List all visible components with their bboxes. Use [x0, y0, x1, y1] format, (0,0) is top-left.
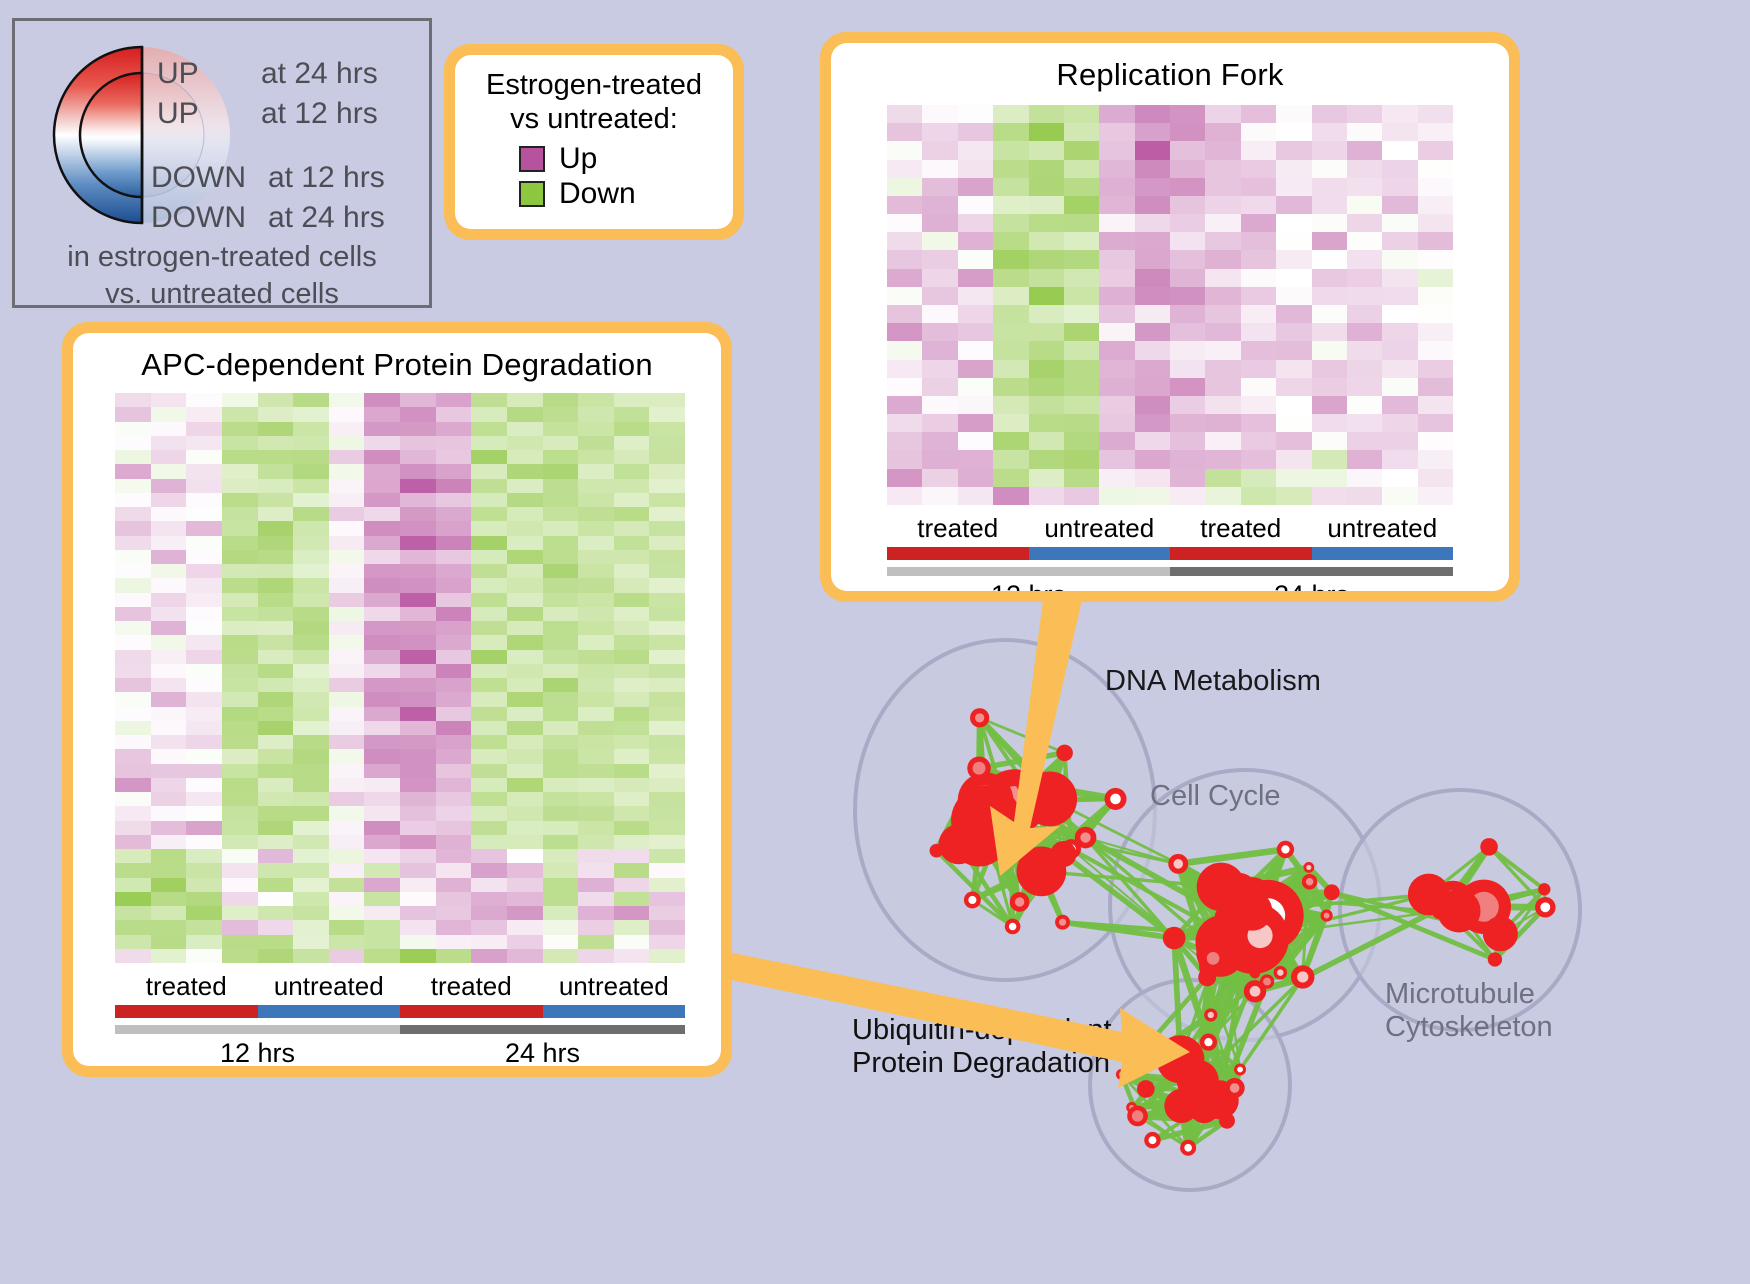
- legend-item-down: Down: [519, 177, 717, 211]
- rep-time-1: 24 hrs: [1170, 580, 1453, 591]
- apc-time-1: 24 hrs: [400, 1038, 685, 1066]
- network-node-core: [1080, 832, 1090, 842]
- color-key-box: UP at 24 hrs UP at 12 hrs DOWN at 12 hrs…: [12, 18, 432, 308]
- network-node[interactable]: [1483, 916, 1518, 951]
- network-node-core: [1540, 902, 1550, 912]
- rep-condition-bars: [887, 547, 1453, 560]
- replication-fork-title: Replication Fork: [831, 43, 1509, 93]
- network-node-core: [1306, 878, 1313, 885]
- network-node-core: [1250, 986, 1261, 997]
- replication-fork-heatmap: [887, 105, 1453, 505]
- network-node-core: [1207, 952, 1220, 965]
- apc-cond-1: untreated: [258, 971, 401, 1002]
- network-node[interactable]: [1050, 841, 1076, 867]
- apc-time-labels: 12 hrs 24 hrs: [115, 1038, 685, 1066]
- network-node-core: [1297, 971, 1308, 982]
- replication-fork-axis: treated untreated treated untreated 12 h…: [887, 513, 1453, 591]
- rep-time-bars: [887, 567, 1453, 576]
- network-node-core: [1184, 1144, 1192, 1152]
- network-label-dna-metabolism: DNA Metabolism: [1105, 665, 1321, 698]
- network-node-core: [1277, 969, 1283, 975]
- network-label-ubiquitin: Ubiquitin-dependent Protein Degradation: [852, 1014, 1112, 1081]
- rep-condition-labels: treated untreated treated untreated: [887, 513, 1453, 544]
- key-time-up-12: at 12 hrs: [261, 97, 378, 131]
- network-node-core: [1263, 978, 1271, 986]
- network-node[interactable]: [1056, 745, 1073, 762]
- network-node-core: [1237, 1067, 1243, 1073]
- legend-heading-line2: vs untreated:: [471, 103, 717, 137]
- rep-cond-1: untreated: [1029, 513, 1171, 544]
- network-node[interactable]: [1156, 1035, 1204, 1083]
- legend-heading: Estrogen-treated vs untreated:: [471, 69, 717, 136]
- network-node-core: [1173, 859, 1183, 869]
- network-node[interactable]: [1250, 968, 1260, 978]
- legend-panel: Estrogen-treated vs untreated: Up Down: [444, 44, 744, 240]
- network-node-core: [973, 762, 986, 775]
- apc-condition-bars: [115, 1005, 685, 1018]
- network-node[interactable]: [1437, 889, 1480, 932]
- network-node-core: [1208, 1012, 1214, 1018]
- network-node-core: [1009, 923, 1016, 930]
- apc-degradation-title: APC-dependent Protein Degradation: [73, 333, 721, 383]
- network-node-core: [1306, 865, 1311, 870]
- network-node-core: [1119, 1072, 1124, 1077]
- network-node[interactable]: [1137, 1080, 1155, 1098]
- network-node[interactable]: [1164, 1089, 1198, 1123]
- network-node-core: [968, 896, 976, 904]
- network-node-core: [1059, 919, 1066, 926]
- network-node[interactable]: [1219, 1113, 1235, 1129]
- apc-condition-labels: treated untreated treated untreated: [115, 971, 685, 1002]
- rep-time-labels: 12 hrs 24 hrs: [887, 580, 1453, 591]
- replication-fork-panel: Replication Fork treated untreated treat…: [820, 32, 1520, 602]
- key-time-down-24: at 24 hrs: [268, 201, 385, 235]
- apc-time-0: 12 hrs: [115, 1038, 400, 1066]
- key-word-down-24: DOWN: [151, 201, 246, 235]
- legend-label-up: Up: [559, 142, 597, 176]
- apc-cond-3: untreated: [543, 971, 686, 1002]
- network-node-core: [1281, 845, 1289, 853]
- legend-item-up: Up: [519, 142, 717, 176]
- apc-degradation-axis: treated untreated treated untreated 12 h…: [115, 971, 685, 1066]
- network-node[interactable]: [1480, 838, 1498, 856]
- figure-canvas: UP at 24 hrs UP at 12 hrs DOWN at 12 hrs…: [0, 0, 1750, 1279]
- network-node[interactable]: [1488, 952, 1502, 966]
- network-node[interactable]: [1163, 927, 1186, 950]
- color-key-footer-line2: vs. untreated cells: [15, 276, 429, 313]
- apc-time-bars: [115, 1025, 685, 1034]
- network-label-cell-cycle: Cell Cycle: [1150, 780, 1281, 813]
- legend-label-down: Down: [559, 177, 636, 211]
- legend-swatch-down: [519, 181, 545, 207]
- network-node[interactable]: [1198, 968, 1216, 986]
- network-node[interactable]: [930, 844, 944, 858]
- color-key-footer-line1: in estrogen-treated cells: [15, 239, 429, 276]
- legend-swatch-up: [519, 146, 545, 172]
- key-time-down-12: at 12 hrs: [268, 161, 385, 195]
- apc-cond-0: treated: [115, 971, 258, 1002]
- network-node[interactable]: [1216, 923, 1238, 945]
- network-node-core: [1324, 913, 1330, 919]
- apc-degradation-panel: APC-dependent Protein Degradation treate…: [62, 322, 732, 1077]
- pathway-network-diagram: DNA Metabolism Cell Cycle Microtubule Cy…: [790, 610, 1750, 1279]
- network-node-core: [1204, 1038, 1212, 1046]
- network-label-microtubule: Microtubule Cytoskeleton: [1385, 978, 1553, 1045]
- network-node[interactable]: [1039, 779, 1056, 796]
- network-node-core: [1110, 794, 1121, 805]
- network-node-core: [1132, 1110, 1143, 1121]
- network-node-core: [1015, 897, 1024, 906]
- key-word-up-12: UP: [157, 97, 199, 131]
- network-node[interactable]: [971, 812, 999, 840]
- network-svg: [790, 610, 1750, 1279]
- network-node[interactable]: [1538, 883, 1550, 895]
- apc-cond-2: treated: [400, 971, 543, 1002]
- color-key-footer: in estrogen-treated cells vs. untreated …: [15, 239, 429, 313]
- rep-cond-3: untreated: [1312, 513, 1454, 544]
- legend-heading-line1: Estrogen-treated: [471, 69, 717, 103]
- key-word-up-24: UP: [157, 57, 199, 91]
- rep-cond-0: treated: [887, 513, 1029, 544]
- key-time-up-24: at 24 hrs: [261, 57, 378, 91]
- rep-cond-2: treated: [1170, 513, 1312, 544]
- network-node-core: [1149, 1136, 1157, 1144]
- key-word-down-12: DOWN: [151, 161, 246, 195]
- network-node-core: [1230, 1083, 1240, 1093]
- network-node[interactable]: [1324, 884, 1340, 900]
- network-node[interactable]: [1233, 891, 1273, 931]
- network-node[interactable]: [1016, 775, 1034, 793]
- network-node-core: [975, 713, 984, 722]
- apc-degradation-heatmap: [115, 393, 685, 963]
- rep-time-0: 12 hrs: [887, 580, 1170, 591]
